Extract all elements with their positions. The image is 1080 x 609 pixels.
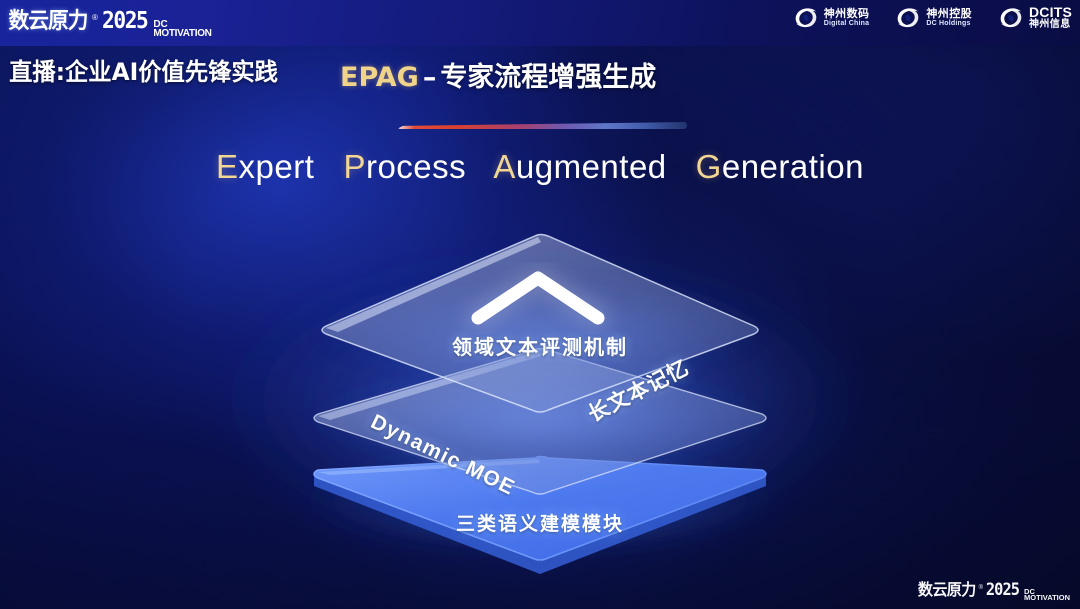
subtitle-space — [676, 148, 686, 185]
subtitle-word-augmented: Augmented — [493, 148, 666, 185]
partner-name-en: DC Holdings — [926, 20, 972, 27]
partner-name-en: Digital China — [824, 20, 870, 27]
partner-label-dcits: DCITS 神州信息 — [1029, 5, 1072, 30]
subtitle-word-expert: Expert — [216, 148, 314, 185]
layer-label-bottom: 三类语义建模模块 — [0, 509, 1080, 536]
subtitle-english: Expert Process Augmented Generation — [0, 148, 1080, 186]
brand-logo-chinese: 数云原力 — [9, 3, 88, 35]
watermark-registered-mark: ® — [979, 585, 983, 591]
partner-logo-dc-holdings: 神州控股 DC Holdings — [895, 7, 972, 29]
live-stream-title: 直播:企业AI价值先锋实践 — [9, 52, 278, 87]
watermark-chinese: 数云原力 — [918, 576, 976, 600]
swirl-logo-icon — [895, 7, 921, 29]
watermark-dc-motivation: DC MOTIVATION — [1024, 589, 1070, 603]
partner-name-cn: 神州控股 — [926, 8, 972, 20]
layer-label-top: 领域文本评测机制 — [0, 331, 1080, 360]
partner-logo-group: 神州数码 Digital China 神州控股 DC Holdings — [793, 5, 1072, 30]
swirl-logo-icon — [998, 7, 1024, 29]
headline-epag: EPAG–专家流程增强生成 — [340, 55, 656, 94]
subtitle-space — [324, 148, 334, 185]
partner-logo-digital-china: 神州数码 Digital China — [793, 7, 870, 29]
partner-label-digital-china: 神州数码 Digital China — [824, 8, 870, 27]
subtitle-word-process: Process — [343, 148, 466, 185]
partner-logo-dcits: DCITS 神州信息 — [998, 5, 1072, 30]
partner-name-cn: 神州信息 — [1029, 20, 1072, 31]
partner-name-cn: 神州数码 — [824, 8, 870, 20]
watermark-year: 2025 — [986, 580, 1019, 600]
slide-canvas: 数云原力 ® 2025 DC MOTIVATION 直播:企业AI价值先锋实践 … — [0, 0, 1080, 609]
brand-logo-motivation: MOTIVATION — [153, 29, 211, 38]
brand-logo-dc-motivation: DC MOTIVATION — [153, 20, 211, 38]
watermark-motivation: MOTIVATION — [1024, 595, 1070, 602]
headline-acronym: EPAG — [340, 62, 419, 93]
partner-label-dc-holdings: 神州控股 DC Holdings — [926, 8, 972, 27]
partner-name-en: DCITS — [1029, 5, 1072, 20]
swirl-logo-icon — [793, 7, 819, 29]
subtitle-word-generation: Generation — [696, 148, 864, 185]
headline-chinese: 专家流程增强生成 — [440, 62, 656, 93]
bottom-watermark-logo: 数云原力 ® 2025 DC MOTIVATION — [916, 576, 1070, 604]
brand-logo-registered-mark: ® — [92, 13, 98, 22]
subtitle-space — [476, 148, 486, 185]
headline-dash: – — [419, 62, 441, 93]
brand-logo-year: 2025 — [102, 8, 147, 34]
brand-logo: 数云原力 ® 2025 DC MOTIVATION — [6, 3, 212, 39]
